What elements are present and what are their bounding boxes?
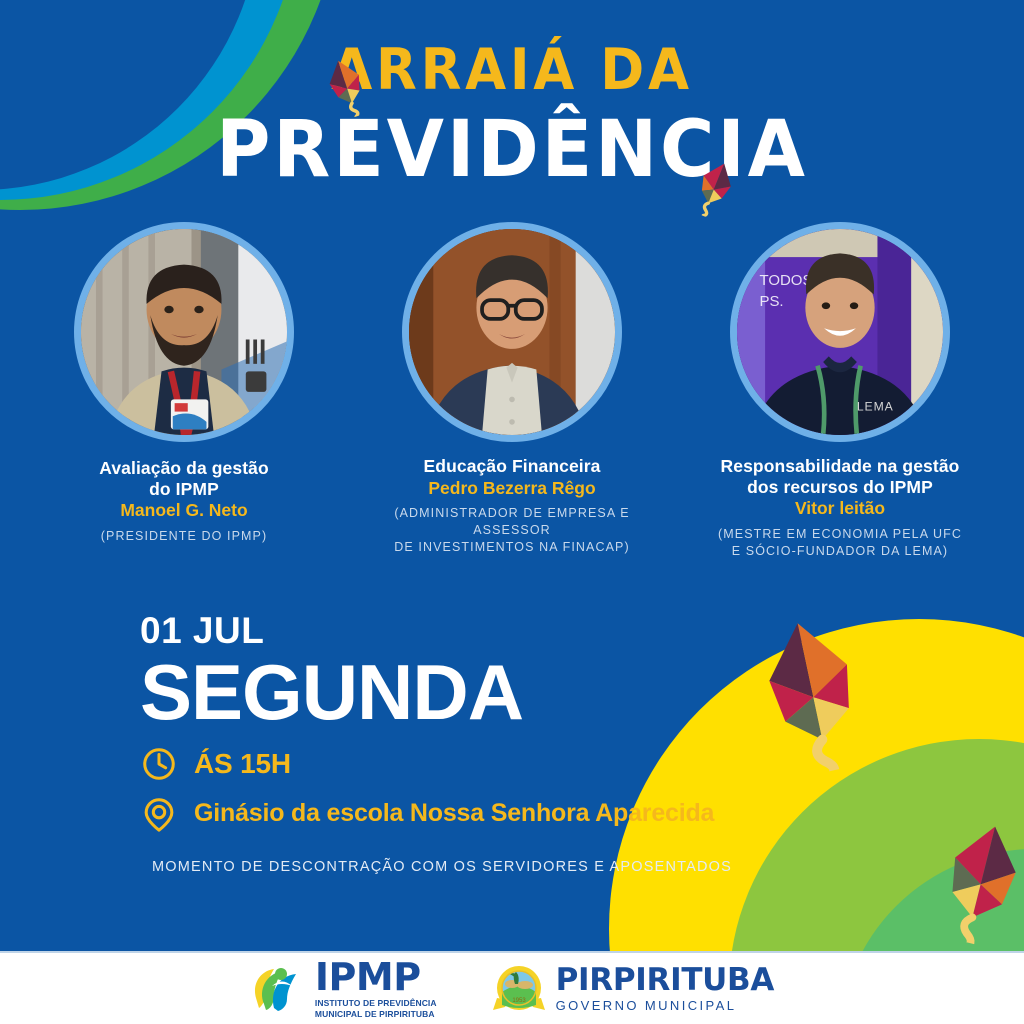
avatar — [402, 222, 622, 442]
event-location-row: Ginásio da escola Nossa Senhora Aparecid… — [140, 795, 732, 833]
speaker-caption: Educação Financeira Pedro Bezerra Rêgo (… — [367, 456, 657, 556]
speaker-name: Vitor leitão — [718, 498, 962, 519]
pirpirituba-logo: 1953 PIRPIRITUBA GOVERNO MUNICIPAL — [491, 962, 774, 1016]
event-details: 01 JUL SEGUNDA ÁS 15H Ginásio da escola … — [140, 612, 732, 875]
ipmp-wordmark: IPMP INSTITUTO DE PREVIDÊNCIA MUNICIPAL … — [315, 958, 437, 1018]
ipmp-mark-icon — [250, 964, 306, 1014]
clock-icon — [140, 745, 178, 783]
ipmp-logo: IPMP INSTITUTO DE PREVIDÊNCIA MUNICIPAL … — [250, 958, 437, 1018]
speaker-topic: Educação Financeira — [371, 456, 653, 477]
svg-text:TODOS: TODOS — [759, 272, 812, 289]
speaker-card: TODOS PS. LEMA Responsabilidade na gestã… — [695, 222, 985, 560]
event-weekday: SEGUNDA — [140, 653, 732, 733]
speaker-role: (MESTRE EM ECONOMIA PELA UFC E SÓCIO-FUN… — [718, 526, 962, 560]
poster-header: ARRAIÁ DA PREVIDÊNCIA — [0, 42, 1024, 189]
speaker-card: Educação Financeira Pedro Bezerra Rêgo (… — [367, 222, 657, 560]
event-time-row: ÁS 15H — [140, 745, 732, 783]
title-line-1: ARRAIÁ DA — [36, 42, 988, 99]
poster-canvas: ARRAIÁ DA PREVIDÊNCIA — [0, 0, 1024, 1024]
event-note: MOMENTO DE DESCONTRAÇÃO COM OS SERVIDORE… — [152, 859, 732, 875]
speaker-caption: Avaliação da gestão do IPMP Manoel G. Ne… — [95, 458, 273, 545]
speaker-photo-pedro — [409, 229, 615, 435]
speaker-topic: Avaliação da gestão do IPMP — [99, 458, 269, 499]
speaker-topic: Responsabilidade na gestão dos recursos … — [718, 456, 962, 497]
speaker-role: (ADMINISTRADOR DE EMPRESA E ASSESSOR DE … — [371, 505, 653, 556]
speaker-name: Pedro Bezerra Rêgo — [371, 478, 653, 499]
ipmp-acronym: IPMP — [315, 955, 421, 999]
speaker-photo-manoel — [81, 229, 287, 435]
city-name: PIRPIRITUBA — [556, 962, 774, 998]
city-seal-year: 1953 — [512, 998, 526, 1004]
speaker-name: Manoel G. Neto — [99, 500, 269, 521]
title-line-2: PREVIDÊNCIA — [26, 111, 999, 189]
event-location: Ginásio da escola Nossa Senhora Aparecid… — [194, 799, 714, 828]
city-wordmark: PIRPIRITUBA GOVERNO MUNICIPAL — [556, 965, 774, 1012]
location-pin-icon — [140, 795, 178, 833]
speaker-photo-vitor: TODOS PS. LEMA — [737, 229, 943, 435]
footer-bar: IPMP INSTITUTO DE PREVIDÊNCIA MUNICIPAL … — [0, 951, 1024, 1024]
speaker-card: Avaliação da gestão do IPMP Manoel G. Ne… — [39, 222, 329, 560]
svg-text:LEMA: LEMA — [857, 400, 894, 414]
city-tagline: GOVERNO MUNICIPAL — [556, 999, 774, 1012]
speaker-list: Avaliação da gestão do IPMP Manoel G. Ne… — [0, 222, 1024, 560]
avatar — [74, 222, 294, 442]
event-time: ÁS 15H — [194, 748, 291, 780]
svg-text:PS.: PS. — [759, 293, 783, 310]
event-date: 01 JUL — [140, 612, 732, 649]
speaker-caption: Responsabilidade na gestão dos recursos … — [714, 456, 966, 560]
avatar: TODOS PS. LEMA — [730, 222, 950, 442]
speaker-role: (PRESIDENTE DO IPMP) — [99, 528, 269, 545]
ipmp-tagline: INSTITUTO DE PREVIDÊNCIA MUNICIPAL DE PI… — [315, 998, 437, 1018]
city-seal-icon: 1953 — [491, 962, 547, 1016]
